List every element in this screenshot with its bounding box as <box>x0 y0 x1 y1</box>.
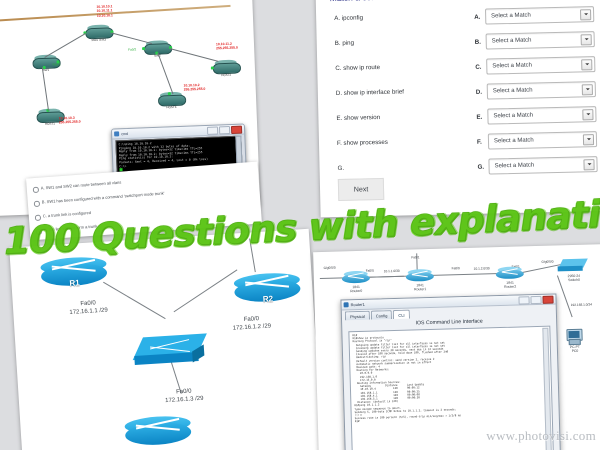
pt-tab-bar[interactable]: Physical Config CLI <box>345 310 410 321</box>
match-row-e: E. Select a Match <box>476 106 596 125</box>
router-node-host3: HOST3 <box>158 92 184 106</box>
match-select-b[interactable]: Select a Match <box>486 31 595 49</box>
close-button[interactable] <box>231 125 242 133</box>
pt-device-label-1: 1841 Router1 <box>402 283 438 292</box>
router-name: R1 <box>69 278 80 288</box>
minimize-button[interactable] <box>207 126 218 134</box>
match-letter: D. <box>476 88 483 95</box>
minimize-button[interactable] <box>518 296 529 304</box>
device-name: Switch0 <box>568 278 580 282</box>
router-label: HOST2 <box>221 73 231 77</box>
interface-label: Gig0/0/0 <box>541 260 553 264</box>
match-select-value: Select a Match <box>493 113 533 120</box>
match-select-value: Select a Match <box>493 88 533 95</box>
quiz-item-c: C. show ip route <box>335 64 380 72</box>
match-select-e[interactable]: Select a Match <box>487 106 596 124</box>
radio-option-b[interactable] <box>34 201 40 207</box>
match-letter: F. <box>477 138 484 145</box>
terminal-icon <box>114 131 119 136</box>
maximize-button[interactable] <box>219 126 230 134</box>
pt-pc-0 <box>565 329 581 345</box>
quiz-card: Match a command with its definition A. i… <box>315 0 600 217</box>
match-row-b: B. Select a Match <box>475 31 595 50</box>
router-node-core: ROUTER3 <box>85 24 111 38</box>
match-select-value: Select a Match <box>492 63 532 70</box>
match-letter: C. <box>475 63 482 70</box>
pt-router-0 <box>342 271 370 285</box>
tab-config[interactable]: Config <box>371 310 393 320</box>
match-letter: E. <box>476 113 483 120</box>
router-r3 <box>124 415 192 449</box>
pt-device-label-4: PC-PT PC0 <box>558 344 592 353</box>
pt-window-title-bar[interactable]: Router1 <box>341 294 555 310</box>
chevron-down-icon[interactable] <box>583 134 594 145</box>
link-label: 192.168.1.0/24 <box>571 302 592 307</box>
match-row-a: A. Select a Match <box>474 6 594 25</box>
match-letter: A. <box>474 13 481 20</box>
packet-tracer-card: Gig0/0/0 Fa0/0 10.1.1.0/30 Fa0/1 Fa0/0 1… <box>313 244 600 450</box>
ip-label-host1: 10.10.10.3255.255.255.0 <box>59 116 81 126</box>
match-select-d[interactable]: Select a Match <box>487 81 596 99</box>
interface-label-r1: Fa0/0 172.16.1.1 /29 <box>69 300 108 317</box>
if-name: Fa0/0 <box>244 316 260 323</box>
tab-cli[interactable]: CLI <box>393 310 409 319</box>
quiz-item-e: E. show version <box>336 114 380 122</box>
device-name: Router2 <box>504 285 516 289</box>
if-name: Fa0/0 <box>80 300 96 307</box>
tab-physical[interactable]: Physical <box>345 311 370 321</box>
collage-stage: 10.10.10.110.10.11.110.10.10.1 ROUTER3 S… <box>0 0 600 450</box>
chevron-down-icon[interactable] <box>581 34 592 45</box>
interface-label: Gig0/0/0 <box>324 266 336 270</box>
interface-label: Fa0/1 <box>411 255 419 259</box>
if-address: 172.16.1.1 /29 <box>69 307 108 315</box>
if-address: 172.16.1.3 /29 <box>165 395 204 403</box>
if-address: 172.16.1.2 /29 <box>233 323 272 331</box>
quiz-item-b: B. ping <box>335 40 354 47</box>
if-name: Fa0/0 <box>176 388 192 395</box>
match-select-g[interactable]: Select a Match <box>488 156 597 174</box>
match-letter: G. <box>477 163 484 170</box>
match-row-c: C. Select a Match <box>475 56 595 75</box>
pt-device-label-3: 2950-24 Switch0 <box>554 273 594 282</box>
pt-device-label-0: 1841 Router0 <box>338 285 374 294</box>
maximize-button[interactable] <box>530 295 541 303</box>
match-select-value: Select a Match <box>491 13 531 20</box>
mcq-option-line: A. SW1 and SW2 can route between all vla… <box>41 180 122 191</box>
quiz-item-g: G. <box>337 165 344 172</box>
next-button[interactable]: Next <box>338 178 384 201</box>
ip-label-host2: 10.10.11.2255.255.255.0 <box>216 42 238 52</box>
match-row-d: D. Select a Match <box>476 81 596 100</box>
chevron-down-icon[interactable] <box>582 109 593 120</box>
radio-option-a[interactable] <box>33 187 39 193</box>
router-label: HOST3 <box>166 105 176 109</box>
device-name: Router0 <box>350 289 362 293</box>
router-label: HOST1 <box>45 122 55 126</box>
chevron-down-icon[interactable] <box>581 59 592 70</box>
pt-switch-0 <box>557 259 587 274</box>
link-label: 10.1.2.0/30 <box>474 266 490 270</box>
switch-node <box>133 334 207 370</box>
match-select-value: Select a Match <box>494 138 534 145</box>
ip-label-core: 10.10.10.110.10.11.110.10.10.1 <box>96 4 113 18</box>
link-label: Fa0/1 <box>53 62 61 66</box>
pt-router-1 <box>406 269 434 283</box>
pt-device-label-2: 1841 Router2 <box>492 280 528 289</box>
match-row-f: F. Select a Match <box>477 131 597 150</box>
pt-window-title: Router1 <box>351 298 518 308</box>
router-r2: R2 <box>233 271 301 305</box>
ip-label-host3: 10.10.10.2255.255.255.0 <box>183 83 205 93</box>
terminal-title: cmd <box>121 128 207 135</box>
watermark: www.photovisi.com <box>486 428 596 444</box>
match-letter: B. <box>475 38 482 45</box>
interface-label-r2: Fa0/0 172.16.1.2 /29 <box>232 315 271 332</box>
match-row-g: G. Select a Match <box>477 156 597 175</box>
interface-label: Fa0/0 <box>452 266 460 270</box>
device-name: Router1 <box>414 287 426 291</box>
interface-label-r3: Fa0/0 172.16.1.3 /29 <box>164 388 203 405</box>
chevron-down-icon[interactable] <box>583 159 594 170</box>
quiz-item-a: A. ipconfig <box>334 14 363 22</box>
chevron-down-icon[interactable] <box>580 9 591 20</box>
chevron-down-icon[interactable] <box>582 84 593 95</box>
match-select-value: Select a Match <box>492 38 532 45</box>
match-select-a[interactable]: Select a Match <box>485 6 594 24</box>
match-select-c[interactable]: Select a Match <box>486 56 595 74</box>
close-button[interactable] <box>542 295 553 303</box>
match-select-value: Select a Match <box>494 163 534 170</box>
quiz-item-f: F. show processes <box>337 139 388 147</box>
page-title: Match a command with its definition <box>330 0 465 3</box>
router-name: R2 <box>263 294 274 304</box>
router-label: ROUTER3 <box>91 38 105 43</box>
packet-tracer-device-window[interactable]: Router1 Physical Config CLI IOS Command … <box>340 293 561 450</box>
router-icon <box>344 302 349 307</box>
pt-router-2 <box>496 266 524 280</box>
link-label: 10.1.1.0/30 <box>384 269 400 273</box>
match-select-f[interactable]: Select a Match <box>488 131 597 149</box>
mcq-option-line: B. SW1 has been configured with a comman… <box>42 190 165 204</box>
link-label: Fa0/2 <box>128 47 136 51</box>
quiz-item-d: D. show ip interface brief <box>336 88 404 97</box>
device-name: PC0 <box>572 349 579 353</box>
